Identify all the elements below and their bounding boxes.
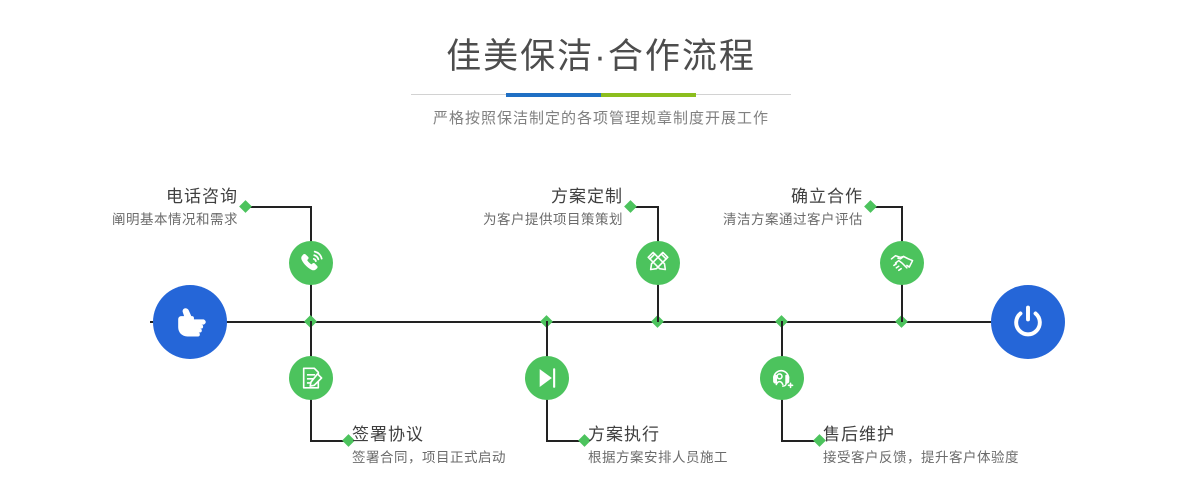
divider-green-segment <box>601 93 696 97</box>
step-icon-1 <box>289 241 333 285</box>
step-label-1: 电话咨询 阐明基本情况和需求 <box>50 186 238 230</box>
page-title: 佳美保洁·合作流程 <box>0 34 1202 79</box>
header: 佳美保洁·合作流程 严格按照保洁制定的各项管理规章制度开展工作 <box>0 34 1202 129</box>
connector-hline-1 <box>245 206 312 208</box>
title-divider <box>411 93 791 97</box>
page-subtitle: 严格按照保洁制定的各项管理规章制度开展工作 <box>0 109 1202 129</box>
step-icon-6 <box>760 356 804 400</box>
step-title-1: 电话咨询 <box>50 186 238 208</box>
step-label-6: 售后维护 接受客户反馈，提升客户体验度 <box>823 424 1183 468</box>
power-icon <box>1007 301 1049 343</box>
step-desc-3: 为客户提供项目策策划 <box>400 210 623 230</box>
customer-support-icon <box>769 365 795 391</box>
step-desc-1: 阐明基本情况和需求 <box>50 210 238 230</box>
pointing-hand-icon <box>169 301 211 343</box>
step-title-3: 方案定制 <box>400 186 623 208</box>
step-label-5: 确立合作 清洁方案通过客户评估 <box>640 186 863 230</box>
divider-blue-segment <box>506 93 601 97</box>
label-diamond-3 <box>624 200 637 213</box>
step-icon-5 <box>880 241 924 285</box>
phone-call-icon <box>298 250 324 276</box>
play-execute-icon <box>534 365 560 391</box>
step-title-6: 售后维护 <box>823 424 1183 446</box>
step-label-3: 方案定制 为客户提供项目策策划 <box>400 186 623 230</box>
step-icon-4 <box>525 356 569 400</box>
pencil-design-icon <box>645 250 671 276</box>
process-flow-infographic: 佳美保洁·合作流程 严格按照保洁制定的各项管理规章制度开展工作 <box>0 0 1202 502</box>
step-title-5: 确立合作 <box>640 186 863 208</box>
step-desc-5: 清洁方案通过客户评估 <box>640 210 863 230</box>
handshake-icon <box>889 250 915 276</box>
label-diamond-1 <box>239 200 252 213</box>
timeline-end-node <box>991 285 1065 359</box>
timeline-start-node <box>153 285 227 359</box>
label-diamond-5 <box>864 200 877 213</box>
contract-sign-icon <box>298 365 324 391</box>
timeline-axis <box>150 321 1052 323</box>
step-icon-3 <box>636 241 680 285</box>
step-desc-6: 接受客户反馈，提升客户体验度 <box>823 448 1183 468</box>
step-icon-2 <box>289 356 333 400</box>
